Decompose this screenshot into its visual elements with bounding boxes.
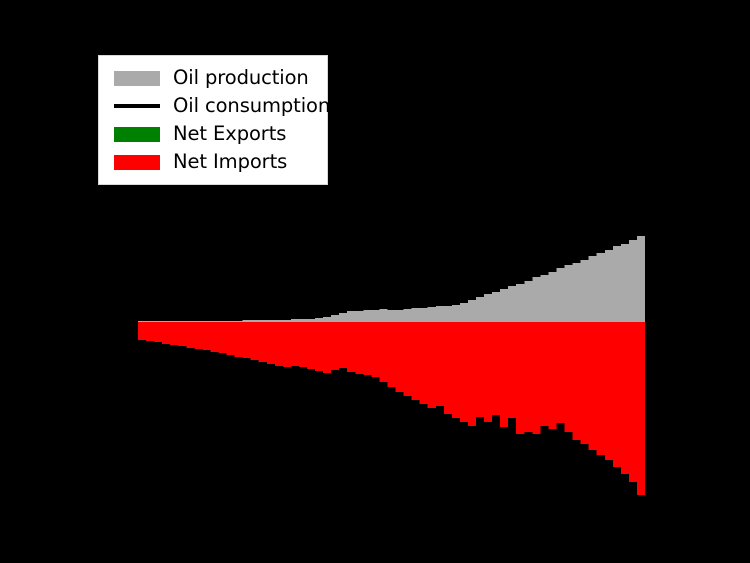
- legend-entry-net-imports: Net Imports: [109, 148, 317, 176]
- green-square-swatch-cell: [109, 127, 165, 142]
- black-line-swatch-cell: [109, 104, 165, 108]
- legend-entry-oil-production: Oil production: [109, 64, 317, 92]
- gray-square-swatch-cell: [109, 71, 165, 86]
- legend-entry-oil-consumption: Oil consumption: [109, 92, 317, 120]
- legend-label-oil-production: Oil production: [165, 68, 309, 88]
- net-imports-area: [138, 322, 645, 495]
- legend-entry-net-exports: Net Exports: [109, 120, 317, 148]
- red-square-swatch-cell: [109, 155, 165, 170]
- legend-label-net-imports: Net Imports: [165, 152, 287, 172]
- chart-legend: Oil production Oil consumption Net Expor…: [98, 55, 328, 185]
- gray-square-swatch: [114, 71, 160, 86]
- oil-production-area: [138, 236, 645, 322]
- red-square-swatch: [114, 155, 160, 170]
- black-line-swatch: [114, 104, 160, 108]
- legend-label-net-exports: Net Exports: [165, 124, 286, 144]
- figure-canvas: Oil production Oil consumption Net Expor…: [0, 0, 750, 563]
- green-square-swatch: [114, 127, 160, 142]
- legend-label-oil-consumption: Oil consumption: [165, 96, 330, 116]
